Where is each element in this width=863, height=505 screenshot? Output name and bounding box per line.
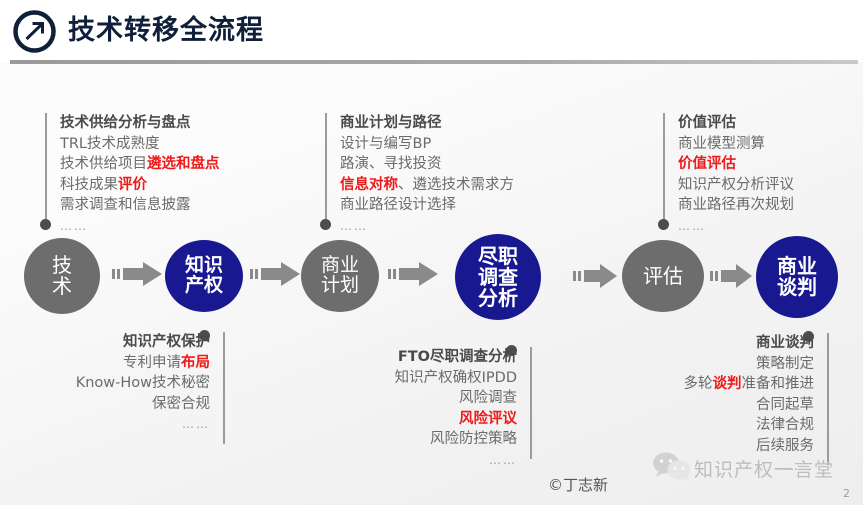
copyright-text: ©丁志新 [548,474,608,495]
text-line: 多轮谈判准备和推进 [590,374,814,395]
text-line: 专利申请布局 [0,353,210,374]
flow-node-label: 评估 [643,266,683,287]
text-line: 保密合规 [0,394,210,415]
page-title: 技术转移全流程 [68,11,264,51]
text-line: 商业路径再次规划 [678,195,794,216]
wechat-logo-icon [652,452,694,486]
pin-dot [40,219,51,230]
title-divider [10,60,858,64]
ellipsis-marker: …… [60,216,220,237]
flow-arrow-5 [710,262,754,294]
text-run: 专利申请 [123,355,181,371]
text-line: 知识产权确权IPDD [300,368,517,389]
flow-node-label: 知识产权 [185,256,223,296]
text-block-heading: 技术供给分析与盘点 [60,113,220,134]
text-block-fto: FTO尽职调查分析知识产权确权IPDD风险调查风险评议风险防控策略…… [300,347,532,459]
flow-node-line: 知识 [185,256,223,276]
text-block-business-plan: 商业计划与路径设计与编写BP路演、寻找投资信息对称、遴选技术需求方商业路径设计选… [325,113,514,225]
text-block-value-assessment: 价值评估商业模型测算价值评估知识产权分析评议商业路径再次规划…… [663,113,794,225]
text-line: 知识产权分析评议 [678,175,794,196]
flow-arrow-3 [388,260,440,292]
wechat-account-name: 知识产权一言堂 [694,455,834,482]
text-run: 科技成果 [60,177,118,193]
flow-node-line: 技 [52,255,72,276]
arrow-up-right-circle-icon [12,9,57,54]
flow-node-ip[interactable]: 知识产权 [165,240,243,312]
text-block-heading: 商业谈判 [590,333,814,354]
flow-node-line: 商业 [321,256,359,276]
text-block-heading: FTO尽职调查分析 [300,347,517,368]
text-line: 科技成果评价 [60,175,220,196]
pin-dot [320,219,331,230]
highlight-text: 价值评估 [678,154,794,175]
text-line: 需求调查和信息披露 [60,195,220,216]
ellipsis-marker: …… [0,414,210,435]
flow-node-line: 产权 [185,276,223,296]
text-line: 风险调查 [300,388,517,409]
flow-node-label: 技术 [52,255,72,297]
ellipsis-marker: …… [678,216,794,237]
text-block-negotiation: 商业谈判策略制定多轮谈判准备和推进合同起草法律合规后续服务…… [590,333,829,465]
flow-node-line: 调查 [478,267,518,288]
flow-node-line: 尽职 [478,246,518,267]
flow-node-line: 谈判 [777,277,817,298]
text-block-tech-supply: 技术供给分析与盘点TRL技术成熟度技术供给项目遴选和盘点科技成果评价需求调查和信… [45,113,220,225]
text-run: 技术供给项目 [60,156,147,172]
flow-node-line: 评估 [643,266,683,287]
highlight-text: 遴选和盘点 [147,156,220,172]
text-line: 商业路径设计选择 [340,195,514,216]
text-run: 、遴选技术需求方 [398,177,514,193]
flow-node-label: 尽职调查分析 [478,246,518,309]
text-line: TRL技术成熟度 [60,134,220,155]
text-line: 技术供给项目遴选和盘点 [60,154,220,175]
ellipsis-marker: …… [340,216,514,237]
flow-node-business-plan[interactable]: 商业计划 [301,240,379,312]
text-block-heading: 商业计划与路径 [340,113,514,134]
flow-node-negotiation[interactable]: 商业谈判 [756,236,838,318]
flow-node-label: 商业谈判 [777,256,817,298]
slide-header: 技术转移全流程 [0,0,863,62]
highlight-text: 信息对称 [340,177,398,193]
highlight-text: 布局 [181,355,210,371]
text-line: 路演、寻找投资 [340,154,514,175]
flow-node-line: 术 [52,276,72,297]
ellipsis-marker: …… [300,450,517,471]
text-line: 法律合规 [590,415,814,436]
text-line: 后续服务 [590,436,814,457]
pin-dot [658,219,669,230]
highlight-text: 谈判 [713,376,742,392]
slide-canvas: 技术转移全流程 技术供给分析与盘点TRL技术成熟度技术供给项目遴选和盘点科技成果… [0,0,863,505]
flow-node-assessment[interactable]: 评估 [622,240,704,312]
text-run: 准备和推进 [742,376,815,392]
highlight-text: 评价 [118,177,147,193]
text-block-heading: 知识产权保护 [0,332,210,353]
text-line: 信息对称、遴选技术需求方 [340,175,514,196]
text-line: 设计与编写BP [340,134,514,155]
flow-arrow-1 [112,260,164,292]
text-run: 多轮 [684,376,713,392]
flow-node-due-diligence[interactable]: 尽职调查分析 [455,234,541,320]
flow-arrow-4 [573,262,619,294]
text-line: Know-How技术秘密 [0,373,210,394]
flow-node-line: 商业 [777,256,817,277]
highlight-text: 风险评议 [300,409,517,430]
text-line: 合同起草 [590,395,814,416]
text-line: 商业模型测算 [678,134,794,155]
flow-node-line: 分析 [478,288,518,309]
page-number: 2 [843,487,850,500]
flow-node-line: 计划 [321,276,359,296]
flow-node-label: 商业计划 [321,256,359,296]
text-line: 风险防控策略 [300,429,517,450]
text-block-heading: 价值评估 [678,113,794,134]
flow-node-technology[interactable]: 技术 [24,238,100,314]
flow-arrow-2 [250,260,302,292]
text-block-ip-protection: 知识产权保护专利申请布局Know-How技术秘密保密合规…… [0,332,225,444]
text-line: 策略制定 [590,354,814,375]
